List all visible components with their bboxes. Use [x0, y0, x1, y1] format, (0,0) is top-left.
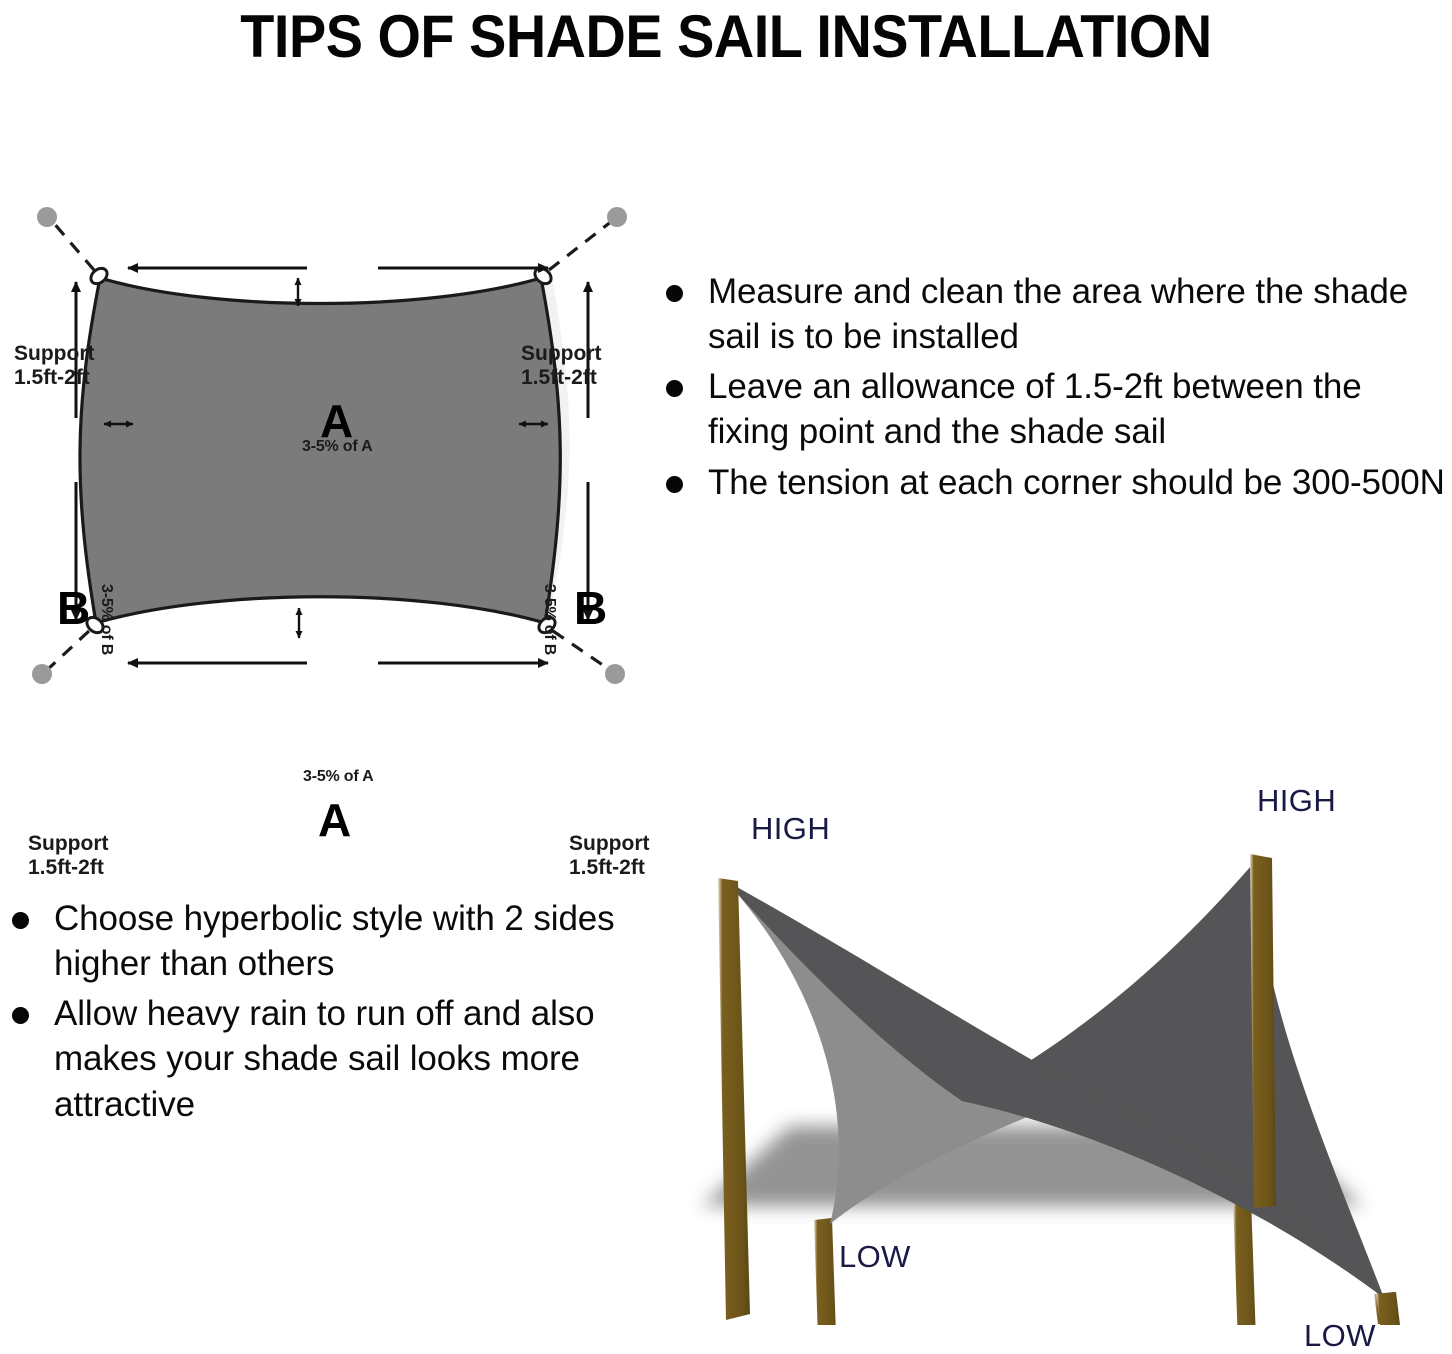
- tip-text: Allow heavy rain to run off and also mak…: [54, 994, 595, 1123]
- dimension-letter-b-left: B: [57, 581, 90, 635]
- support-label-top-left: Support 1.5ft-2ft: [14, 342, 94, 389]
- list-item: Choose hyperbolic style with 2 sides hig…: [2, 896, 622, 986]
- bullet-dot-icon: [12, 1007, 29, 1024]
- page-title: TIPS OF SHADE SAIL INSTALLATION: [51, 2, 1401, 71]
- support-label-bottom-right: Support 1.5ft-2ft: [569, 832, 649, 879]
- primary-tips-list: Measure and clean the area where the sha…: [652, 269, 1452, 510]
- label-high-left: HIGH: [751, 811, 830, 847]
- tolerance-label-bottom: 3-5% of A: [303, 768, 374, 786]
- dimension-letter-b-right: B: [574, 581, 607, 635]
- tip-text: Measure and clean the area where the sha…: [708, 272, 1408, 356]
- secondary-tips-list: Choose hyperbolic style with 2 sides hig…: [2, 896, 622, 1132]
- post-low-right-rear: [1233, 1198, 1258, 1325]
- dimension-letter-a-bottom: A: [318, 793, 351, 847]
- infographic-page: TIPS OF SHADE SAIL INSTALLATION: [0, 0, 1452, 1325]
- bullet-dot-icon: [666, 476, 683, 493]
- hyperbolic-sail-illustration: HIGH HIGH LOW LOW: [662, 786, 1452, 1325]
- list-item: Allow heavy rain to run off and also mak…: [2, 991, 622, 1126]
- support-label-top-right: Support 1.5ft-2ft: [521, 342, 601, 389]
- tip-text: The tension at each corner should be 300…: [708, 463, 1445, 502]
- list-item: Measure and clean the area where the sha…: [652, 269, 1452, 359]
- tip-text: Leave an allowance of 1.5-2ft between th…: [708, 367, 1362, 451]
- label-high-right: HIGH: [1257, 783, 1336, 819]
- list-item: Leave an allowance of 1.5-2ft between th…: [652, 364, 1452, 454]
- label-low-right: LOW: [1304, 1318, 1376, 1354]
- tip-text: Choose hyperbolic style with 2 sides hig…: [54, 899, 615, 983]
- tolerance-label-right: 3-5% of B: [540, 584, 558, 655]
- tolerance-label-left: 3-5% of B: [97, 584, 115, 655]
- support-label-bottom-left: Support 1.5ft-2ft: [28, 832, 108, 879]
- bullet-dot-icon: [12, 912, 29, 929]
- post-low-left: [814, 1218, 838, 1325]
- rectangular-sail-diagram: Support 1.5ft-2ft Support 1.5ft-2ft Supp…: [0, 160, 660, 730]
- list-item: The tension at each corner should be 300…: [652, 460, 1452, 505]
- post-high-left: [718, 878, 750, 1320]
- dimension-letter-a-top: A: [320, 394, 353, 448]
- post-low-right-front-ext: [1376, 1292, 1400, 1325]
- post-high-right: [1250, 854, 1276, 1208]
- bullet-dot-icon: [666, 380, 683, 397]
- label-low-left: LOW: [839, 1239, 911, 1275]
- bullet-dot-icon: [666, 285, 683, 302]
